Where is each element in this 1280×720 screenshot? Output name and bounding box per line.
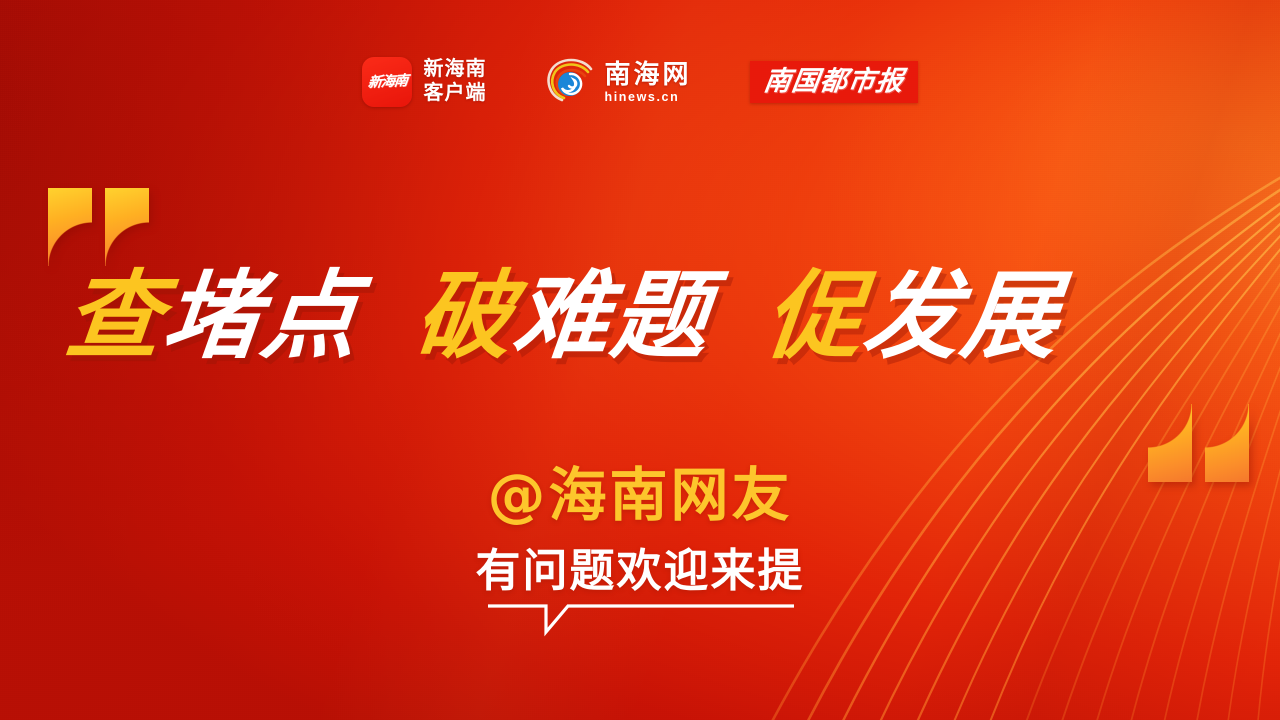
headline-highlight-3: 促 <box>761 268 869 364</box>
xinhainan-app-icon: 新海南 <box>362 57 412 107</box>
headline-rest-1: 堵点 <box>159 268 365 364</box>
nanguo-daily-label: 南国都市报 <box>762 68 906 95</box>
logo-nanguo-daily[interactable]: 南国都市报 <box>750 61 918 103</box>
headline-rest-3: 发展 <box>859 268 1065 364</box>
headline-highlight-2: 破 <box>411 268 519 364</box>
xinhainan-app-line1: 新海南 <box>423 58 486 82</box>
opening-quote-icon <box>48 188 149 266</box>
headline: 查 堵点 破 难题 促 发展 <box>66 268 1060 364</box>
audience-handle: @海南网友 <box>0 466 1280 524</box>
masthead-logo-bar: 新海南 新海南 客户端 南海网 <box>0 56 1280 108</box>
headline-group-2: 破 难题 <box>416 268 710 364</box>
hinews-en-label: hinews.cn <box>604 91 679 104</box>
callout-subtitle: 有问题欢迎来提 <box>0 548 1280 593</box>
headline-highlight-1: 查 <box>61 268 169 364</box>
hinews-wordmark: 南海网 hinews.cn <box>604 61 691 104</box>
headline-group-3: 促 发展 <box>766 268 1060 364</box>
logo-hinews[interactable]: 南海网 hinews.cn <box>544 56 691 108</box>
poster-canvas: 新海南 新海南 客户端 南海网 <box>0 0 1280 720</box>
xinhainan-app-line2: 客户端 <box>423 82 486 106</box>
speech-bubble-underline <box>488 604 794 642</box>
hinews-cn-label: 南海网 <box>604 61 691 87</box>
headline-group-1: 查 堵点 <box>66 268 360 364</box>
headline-rest-2: 难题 <box>509 268 715 364</box>
logo-xinhainan-app[interactable]: 新海南 新海南 客户端 <box>362 57 486 107</box>
xinhainan-app-icon-label: 新海南 <box>367 74 408 90</box>
xinhainan-app-wordmark: 新海南 客户端 <box>423 58 486 105</box>
hinews-swirl-icon <box>544 56 596 108</box>
